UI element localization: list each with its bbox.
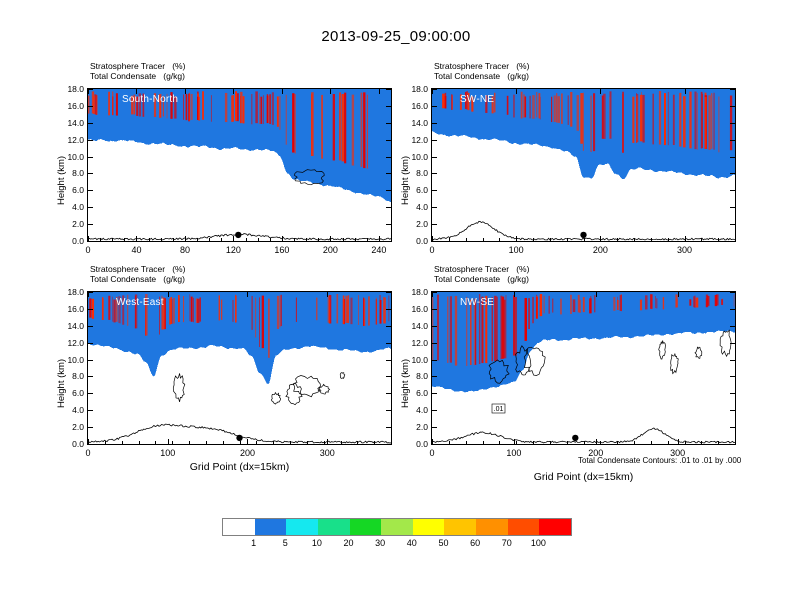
x-tick-label: 0 (68, 245, 108, 255)
y-tick-mark (730, 89, 735, 90)
x-tick-label: 300 (307, 448, 347, 458)
y-tick-label: 6.0 (52, 388, 84, 398)
x-minor-tick (206, 441, 207, 444)
x-minor-tick (499, 238, 500, 241)
y-tick-mark (386, 292, 391, 293)
x-tick-mark (185, 89, 186, 94)
y-tick-mark (730, 106, 735, 107)
x-minor-tick (290, 441, 291, 444)
y-tick-mark (88, 123, 93, 124)
y-tick-mark (88, 427, 93, 428)
x-tick-label: 0 (412, 448, 452, 458)
y-tick-mark (730, 123, 735, 124)
y-tick-label: 18.0 (52, 84, 84, 94)
x-minor-tick (355, 238, 356, 241)
y-tick-mark (88, 106, 93, 107)
x-minor-tick (221, 238, 222, 241)
y-tick-mark (432, 157, 437, 158)
x-minor-tick (374, 441, 375, 444)
y-tick-label: 6.0 (52, 185, 84, 195)
y-tick-mark (386, 123, 391, 124)
colorbar-swatch (318, 519, 350, 535)
y-tick-mark (386, 157, 391, 158)
x-minor-tick (651, 238, 652, 241)
y-tick-mark (88, 360, 93, 361)
x-minor-tick (341, 441, 342, 444)
y-tick-label: 14.0 (52, 321, 84, 331)
y-tick-mark (88, 224, 93, 225)
y-tick-label: 14.0 (396, 321, 428, 331)
x-minor-tick (122, 441, 123, 444)
x-minor-tick (432, 238, 433, 241)
x-minor-tick (343, 238, 344, 241)
x-minor-tick (197, 238, 198, 241)
colorbar-swatch (413, 519, 445, 535)
y-tick-label: 2.0 (52, 422, 84, 432)
y-tick-label: 12.0 (52, 338, 84, 348)
y-tick-label: 4.0 (52, 405, 84, 415)
x-minor-tick (617, 238, 618, 241)
x-minor-tick (357, 441, 358, 444)
x-minor-tick (105, 441, 106, 444)
x-tick-mark (168, 292, 169, 297)
x-minor-tick (246, 238, 247, 241)
x-minor-tick (449, 238, 450, 241)
x-minor-tick (256, 441, 257, 444)
x-minor-tick (735, 238, 736, 241)
x-axis-label-west-east: Grid Point (dx=15km) (87, 461, 392, 473)
y-tick-mark (730, 224, 735, 225)
x-tick-label: 0 (412, 245, 452, 255)
x-minor-tick (668, 441, 669, 444)
colorbar-swatch (476, 519, 508, 535)
x-minor-tick (701, 238, 702, 241)
svg-text:.01: .01 (494, 406, 504, 413)
y-tick-mark (432, 393, 437, 394)
y-tick-label: 12.0 (396, 135, 428, 145)
y-tick-mark (386, 427, 391, 428)
x-minor-tick (533, 441, 534, 444)
x-minor-tick (88, 441, 89, 444)
x-minor-tick (584, 441, 585, 444)
y-tick-label: 4.0 (52, 202, 84, 212)
x-tick-label: 100 (496, 245, 536, 255)
x-minor-tick (306, 238, 307, 241)
x-tick-label: 120 (213, 245, 253, 255)
x-minor-tick (617, 441, 618, 444)
x-minor-tick (634, 238, 635, 241)
x-minor-tick (550, 238, 551, 241)
panel-header-line1: Stratosphere Tracer (%) (434, 264, 529, 275)
y-tick-mark (88, 343, 93, 344)
y-tick-mark (432, 360, 437, 361)
y-tick-label: 6.0 (396, 185, 428, 195)
y-tick-mark (386, 309, 391, 310)
x-minor-tick (318, 238, 319, 241)
y-tick-label: 4.0 (396, 202, 428, 212)
y-tick-mark (730, 207, 735, 208)
y-tick-mark (88, 410, 93, 411)
x-minor-tick (600, 441, 601, 444)
y-axis-label: Height (km) (400, 359, 411, 408)
y-tick-label: 16.0 (396, 101, 428, 111)
y-tick-mark (432, 427, 437, 428)
x-tick-mark (514, 439, 515, 444)
x-tick-label: 100 (148, 448, 188, 458)
page-title: 2013-09-25_09:00:00 (0, 28, 792, 45)
y-tick-mark (432, 173, 437, 174)
x-minor-tick (124, 238, 125, 241)
y-tick-label: 18.0 (52, 287, 84, 297)
colorbar-swatch (508, 519, 540, 535)
x-minor-tick (324, 441, 325, 444)
x-minor-tick (155, 441, 156, 444)
x-tick-mark (168, 439, 169, 444)
x-tick-mark (432, 292, 433, 297)
contour-inline-label: .01 (492, 404, 505, 413)
x-minor-tick (391, 238, 392, 241)
x-minor-tick (685, 441, 686, 444)
x-minor-tick (466, 441, 467, 444)
x-tick-label: 200 (580, 245, 620, 255)
x-minor-tick (701, 441, 702, 444)
y-tick-mark (386, 393, 391, 394)
contour-note: Total Condensate Contours: .01 to .01 by… (578, 456, 741, 465)
y-tick-label: 2.0 (396, 422, 428, 432)
y-tick-mark (386, 89, 391, 90)
colorbar-tick-label: 100 (518, 538, 558, 548)
y-tick-mark (432, 376, 437, 377)
x-minor-tick (379, 238, 380, 241)
y-tick-mark (730, 326, 735, 327)
y-axis-label: Height (km) (56, 156, 67, 205)
panel-tag-nw-se: NW-SE (460, 297, 494, 308)
x-tick-label: 80 (165, 245, 205, 255)
y-tick-mark (88, 444, 93, 445)
x-minor-tick (735, 441, 736, 444)
y-tick-mark (730, 292, 735, 293)
y-tick-mark (386, 360, 391, 361)
x-minor-tick (88, 238, 89, 241)
y-tick-label: 8.0 (396, 168, 428, 178)
x-tick-mark (282, 89, 283, 94)
x-minor-tick (516, 238, 517, 241)
x-tick-mark (233, 89, 234, 94)
x-minor-tick (189, 441, 190, 444)
y-tick-mark (432, 207, 437, 208)
x-minor-tick (516, 441, 517, 444)
y-tick-label: 10.0 (396, 355, 428, 365)
x-tick-mark (379, 89, 380, 94)
x-minor-tick (173, 238, 174, 241)
plot-area-sw-ne[interactable]: SW-NE (431, 88, 736, 242)
panel-header-line2: Total Condensate (g/kg) (90, 71, 185, 82)
panel-tag-west-east: West-East (116, 297, 164, 308)
x-tick-label: 200 (310, 245, 350, 255)
y-tick-label: 10.0 (396, 152, 428, 162)
x-minor-tick (718, 238, 719, 241)
y-tick-mark (730, 444, 735, 445)
panel-header-line1: Stratosphere Tracer (%) (90, 264, 185, 275)
x-tick-label: 0 (68, 448, 108, 458)
y-tick-label: 4.0 (396, 405, 428, 415)
x-minor-tick (136, 238, 137, 241)
panel-header-line1: Stratosphere Tracer (%) (90, 61, 185, 72)
panel-header-line1: Stratosphere Tracer (%) (434, 61, 529, 72)
x-minor-tick (330, 238, 331, 241)
x-minor-tick (600, 238, 601, 241)
x-minor-tick (282, 238, 283, 241)
y-tick-mark (730, 343, 735, 344)
x-minor-tick (100, 238, 101, 241)
colorbar-swatch (255, 519, 287, 535)
colorbar[interactable] (222, 518, 572, 536)
y-tick-label: 8.0 (396, 371, 428, 381)
x-minor-tick (567, 238, 568, 241)
x-tick-mark (678, 292, 679, 297)
y-tick-mark (88, 173, 93, 174)
x-tick-mark (327, 439, 328, 444)
y-tick-mark (386, 326, 391, 327)
y-tick-mark (432, 309, 437, 310)
x-minor-tick (432, 441, 433, 444)
y-tick-mark (88, 207, 93, 208)
y-axis-label: Height (km) (400, 156, 411, 205)
x-tick-mark (514, 292, 515, 297)
y-tick-mark (432, 190, 437, 191)
y-tick-label: 14.0 (396, 118, 428, 128)
y-tick-mark (730, 173, 735, 174)
y-tick-label: 16.0 (396, 304, 428, 314)
x-tick-label: 300 (665, 245, 705, 255)
panel-header-line2: Total Condensate (g/kg) (434, 71, 529, 82)
x-minor-tick (718, 441, 719, 444)
y-tick-mark (88, 326, 93, 327)
station-marker[interactable] (235, 232, 241, 238)
x-minor-tick (685, 238, 686, 241)
y-tick-label: 10.0 (52, 355, 84, 365)
y-tick-mark (386, 190, 391, 191)
x-tick-mark (330, 89, 331, 94)
x-minor-tick (172, 441, 173, 444)
panel-tag-south-north: South-North (122, 94, 178, 105)
y-tick-mark (730, 427, 735, 428)
plot-area-west-east[interactable]: West-East (87, 291, 392, 445)
y-tick-mark (88, 190, 93, 191)
x-minor-tick (270, 238, 271, 241)
x-minor-tick (567, 441, 568, 444)
y-tick-mark (730, 309, 735, 310)
x-tick-mark (600, 89, 601, 94)
y-tick-mark (386, 343, 391, 344)
y-tick-mark (386, 241, 391, 242)
panel-header-line2: Total Condensate (g/kg) (90, 274, 185, 285)
x-minor-tick (584, 238, 585, 241)
x-minor-tick (209, 238, 210, 241)
colorbar-swatch (350, 519, 382, 535)
x-minor-tick (391, 441, 392, 444)
y-tick-mark (730, 360, 735, 361)
x-minor-tick (483, 238, 484, 241)
y-tick-mark (88, 157, 93, 158)
y-tick-label: 10.0 (52, 152, 84, 162)
colorbar-swatch (381, 519, 413, 535)
colorbar-swatch (286, 519, 318, 535)
y-tick-mark (730, 393, 735, 394)
x-minor-tick (651, 441, 652, 444)
x-minor-tick (233, 238, 234, 241)
x-minor-tick (139, 441, 140, 444)
panel-header-line2: Total Condensate (g/kg) (434, 274, 529, 285)
y-tick-mark (432, 326, 437, 327)
x-tick-mark (247, 292, 248, 297)
y-tick-label: 8.0 (52, 168, 84, 178)
y-tick-mark (432, 410, 437, 411)
x-minor-tick (499, 441, 500, 444)
x-tick-label: 160 (262, 245, 302, 255)
x-minor-tick (449, 441, 450, 444)
y-tick-label: 2.0 (52, 219, 84, 229)
x-tick-mark (596, 439, 597, 444)
y-tick-mark (730, 157, 735, 158)
y-tick-mark (386, 376, 391, 377)
y-tick-label: 18.0 (396, 84, 428, 94)
y-tick-mark (432, 444, 437, 445)
x-tick-mark (247, 439, 248, 444)
x-tick-label: 200 (227, 448, 267, 458)
x-minor-tick (668, 238, 669, 241)
y-axis-label: Height (km) (56, 359, 67, 408)
x-tick-mark (327, 292, 328, 297)
x-tick-mark (88, 89, 89, 94)
colorbar-swatch (539, 519, 571, 535)
y-tick-label: 16.0 (52, 304, 84, 314)
y-tick-mark (730, 410, 735, 411)
y-tick-mark (88, 241, 93, 242)
x-minor-tick (550, 441, 551, 444)
y-tick-mark (432, 140, 437, 141)
colorbar-swatch (444, 519, 476, 535)
y-tick-mark (386, 207, 391, 208)
x-tick-label: 100 (494, 448, 534, 458)
x-minor-tick (149, 238, 150, 241)
y-tick-mark (88, 376, 93, 377)
x-minor-tick (273, 441, 274, 444)
y-tick-label: 14.0 (52, 118, 84, 128)
y-tick-label: 2.0 (396, 219, 428, 229)
x-minor-tick (185, 238, 186, 241)
y-tick-label: 12.0 (396, 338, 428, 348)
condensate-contours (173, 373, 344, 405)
x-minor-tick (223, 441, 224, 444)
station-marker[interactable] (572, 435, 578, 441)
y-tick-mark (386, 444, 391, 445)
x-minor-tick (161, 238, 162, 241)
y-tick-mark (386, 410, 391, 411)
x-tick-mark (678, 439, 679, 444)
y-tick-mark (432, 123, 437, 124)
x-tick-label: 240 (359, 245, 399, 255)
y-tick-mark (730, 140, 735, 141)
y-tick-label: 18.0 (396, 287, 428, 297)
y-tick-mark (386, 173, 391, 174)
x-minor-tick (634, 441, 635, 444)
x-minor-tick (367, 238, 368, 241)
y-tick-mark (730, 241, 735, 242)
figure-canvas: 2013-09-25_09:00:00 Stratosphere Tracer … (0, 0, 792, 612)
x-minor-tick (533, 238, 534, 241)
x-tick-mark (685, 89, 686, 94)
y-tick-mark (386, 224, 391, 225)
y-tick-label: 6.0 (396, 388, 428, 398)
y-tick-label: 8.0 (52, 371, 84, 381)
y-tick-mark (730, 190, 735, 191)
x-minor-tick (112, 238, 113, 241)
x-tick-mark (596, 292, 597, 297)
plot-area-nw-se[interactable]: .01 NW-SE (431, 291, 736, 445)
x-minor-tick (294, 238, 295, 241)
x-minor-tick (483, 441, 484, 444)
y-tick-mark (432, 343, 437, 344)
plot-area-south-north[interactable]: South-North (87, 88, 392, 242)
x-axis-label-nw-se: Grid Point (dx=15km) (431, 471, 736, 483)
x-tick-mark (432, 89, 433, 94)
y-tick-mark (386, 140, 391, 141)
panel-tag-sw-ne: SW-NE (460, 94, 494, 105)
y-tick-mark (88, 309, 93, 310)
x-minor-tick (466, 238, 467, 241)
y-tick-label: 16.0 (52, 101, 84, 111)
x-minor-tick (307, 441, 308, 444)
x-tick-mark (88, 292, 89, 297)
x-minor-tick (258, 238, 259, 241)
y-tick-mark (432, 241, 437, 242)
y-tick-mark (432, 224, 437, 225)
y-tick-mark (88, 393, 93, 394)
y-tick-label: 12.0 (52, 135, 84, 145)
y-tick-mark (432, 106, 437, 107)
y-tick-mark (386, 106, 391, 107)
colorbar-swatch (223, 519, 255, 535)
x-minor-tick (240, 441, 241, 444)
y-tick-mark (88, 140, 93, 141)
x-tick-mark (516, 89, 517, 94)
y-tick-mark (730, 376, 735, 377)
x-tick-label: 40 (116, 245, 156, 255)
